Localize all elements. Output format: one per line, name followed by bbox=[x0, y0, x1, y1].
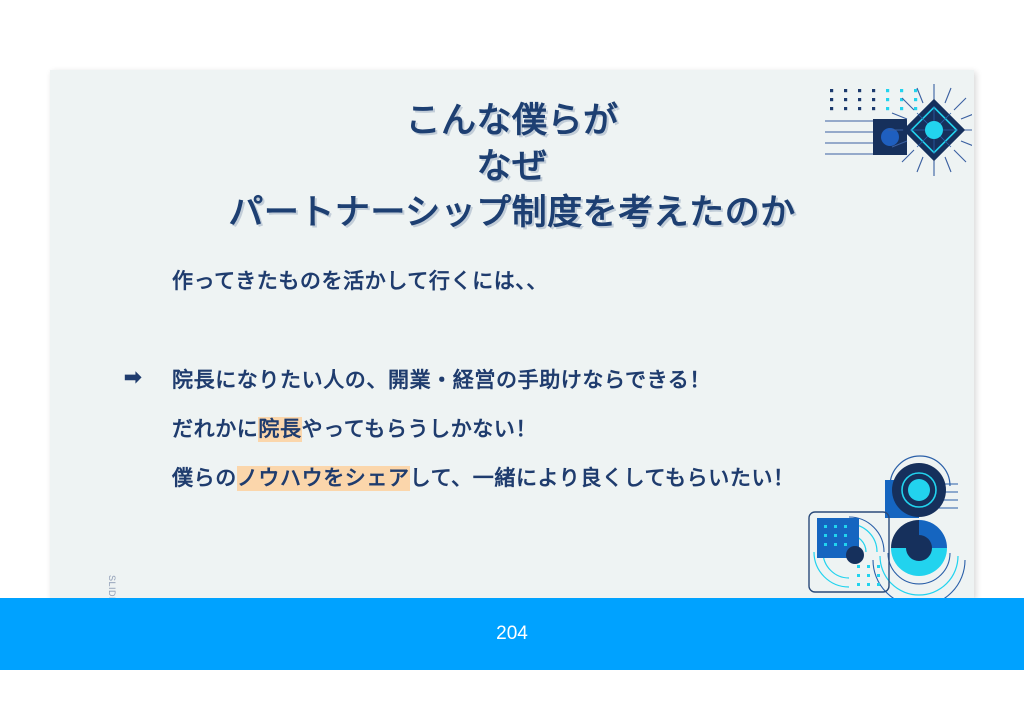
bullet-text: 僕らのノウハウをシェアして、一緒により良くしてもらいたい！ bbox=[172, 463, 795, 495]
bullet-segment: 院長になりたい人の、開業・経営の手助けならできる！ bbox=[172, 369, 711, 392]
diamond-burst-icon bbox=[888, 84, 972, 176]
top-right-decoration-icon bbox=[817, 80, 972, 176]
ring-target-icon bbox=[885, 456, 958, 518]
bullet-segment: だれかに bbox=[172, 418, 258, 441]
footer-bar: 204 bbox=[0, 598, 1024, 670]
lead-text: 作ってきたものを活かして行くには、、 bbox=[172, 265, 548, 295]
bullet-segment: 僕らの bbox=[172, 467, 237, 490]
highlighted-term: 院長 bbox=[258, 417, 301, 442]
bullet-segment: やってもらうしかない！ bbox=[302, 418, 538, 441]
page-number: 204 bbox=[0, 598, 1024, 670]
title-line-3: パートナーシップ制度を考えたのか bbox=[50, 190, 974, 236]
quartered-donut-icon bbox=[873, 520, 965, 598]
arrow-right-icon: ➡ bbox=[124, 367, 142, 388]
bullet-row: ➡ 院長になりたい人の、開業・経営の手助けならできる！ bbox=[50, 369, 974, 418]
square-with-circle-icon bbox=[873, 119, 907, 155]
watermark-text: SLIDESHANA.COM bbox=[107, 575, 117, 598]
horizontal-lines-icon bbox=[825, 121, 875, 154]
watermark: SLIDESHANA.COM bbox=[104, 575, 118, 598]
bullet-text: だれかに院長やってもらうしかない！ bbox=[172, 414, 537, 446]
bullet-text: 院長になりたい人の、開業・経営の手助けならできる！ bbox=[172, 365, 711, 397]
highlighted-term: ノウハウをシェア bbox=[237, 466, 410, 491]
slide-viewer: こんな僕らが なぜ パートナーシップ制度を考えたのか 作ってきたものを活かして行… bbox=[0, 0, 1024, 724]
bullet-segment: して、一緒により良くしてもらいたい！ bbox=[410, 467, 795, 490]
slide-canvas: こんな僕らが なぜ パートナーシップ制度を考えたのか 作ってきたものを活かして行… bbox=[50, 70, 974, 598]
bottom-right-decoration-icon bbox=[802, 438, 974, 598]
